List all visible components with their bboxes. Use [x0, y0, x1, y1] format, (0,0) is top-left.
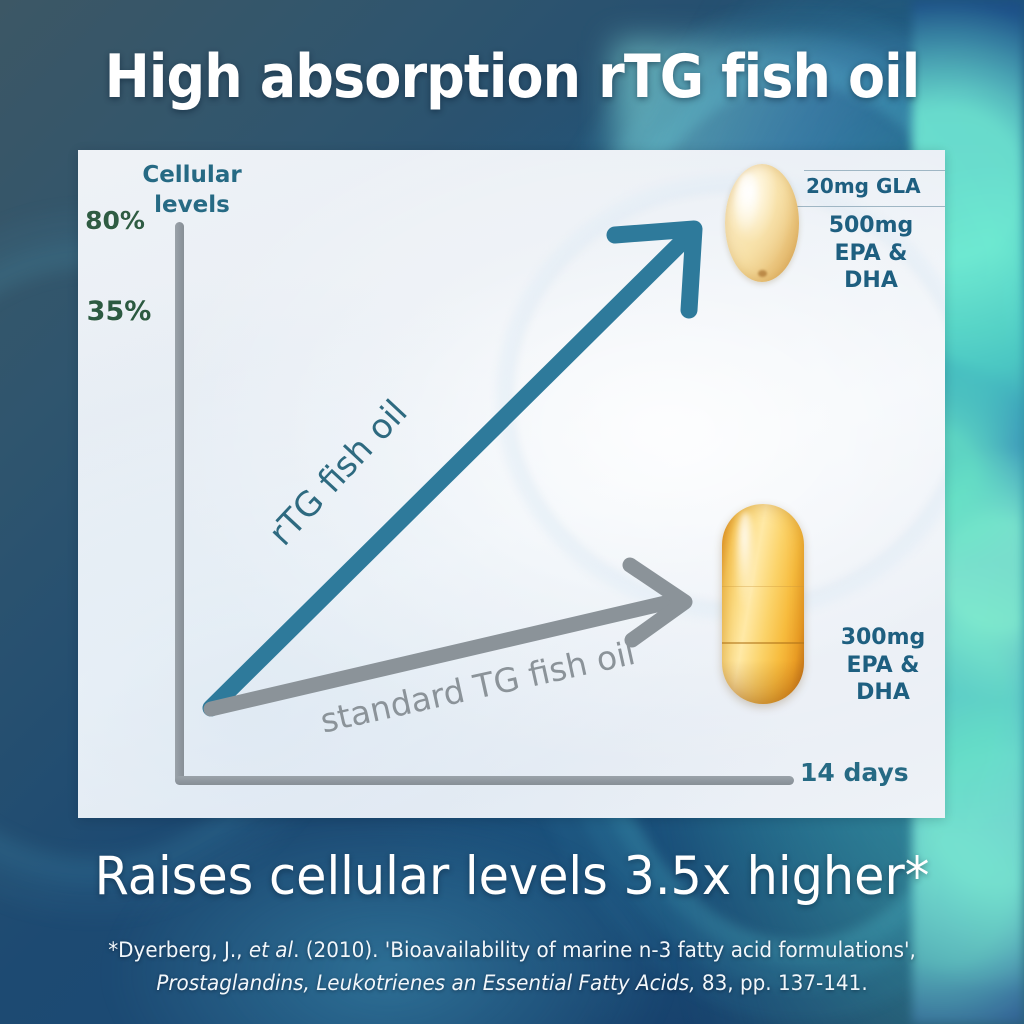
softgel-upper-line — [722, 586, 804, 587]
rtg-callout-epa-name: EPA & DHA — [806, 240, 936, 295]
softgel-bottom-shade — [722, 660, 804, 704]
rtg-callout-epa: 500mg EPA & DHA — [806, 212, 936, 295]
citation-author: *Dyerberg, J., — [108, 938, 249, 962]
x-axis-label: 14 days — [800, 756, 909, 789]
citation-line-2: Prostaglandins, Leukotrienes an Essentia… — [26, 971, 999, 995]
softgel-fill-line — [722, 642, 804, 644]
softgel-gloss — [735, 173, 760, 234]
page-title: High absorption rTG fish oil — [51, 42, 973, 112]
softgel-seam — [758, 270, 768, 277]
callout-rule-top — [804, 170, 945, 171]
rtg-percent-label: 80% — [78, 206, 152, 235]
infographic-canvas: High absorption rTG fish oil Cellular le… — [0, 0, 1024, 1024]
standard-softgel — [722, 504, 804, 704]
standard-callout-epa-amount: 300mg — [818, 624, 945, 652]
softgel-gloss-large — [735, 512, 756, 608]
citation-journal: Prostaglandins, Leukotrienes an Essentia… — [156, 971, 695, 995]
standard-callout-epa: 300mg EPA & DHA — [818, 624, 945, 707]
standard-percent-label: 35% — [78, 296, 160, 327]
rtg-callout-gla: 20mg GLA — [806, 174, 921, 199]
rtg-callout-epa-amount: 500mg — [806, 212, 936, 240]
citation-line-1: *Dyerberg, J., et al. (2010). 'Bioavaila… — [26, 938, 999, 962]
citation-etal: et al — [249, 938, 293, 962]
citation-title: . (2010). 'Bioavailability of marine n-3… — [293, 938, 916, 962]
callout-rule-second — [786, 206, 945, 207]
standard-callout-epa-name: EPA & DHA — [818, 652, 945, 707]
citation-pages: 83, pp. 137-141. — [696, 971, 868, 995]
rtg-softgel — [725, 164, 799, 282]
chart-panel: Cellular levels 14 days rTG fish oil sta… — [78, 150, 945, 818]
tagline: Raises cellular levels 3.5x higher* — [36, 846, 988, 907]
